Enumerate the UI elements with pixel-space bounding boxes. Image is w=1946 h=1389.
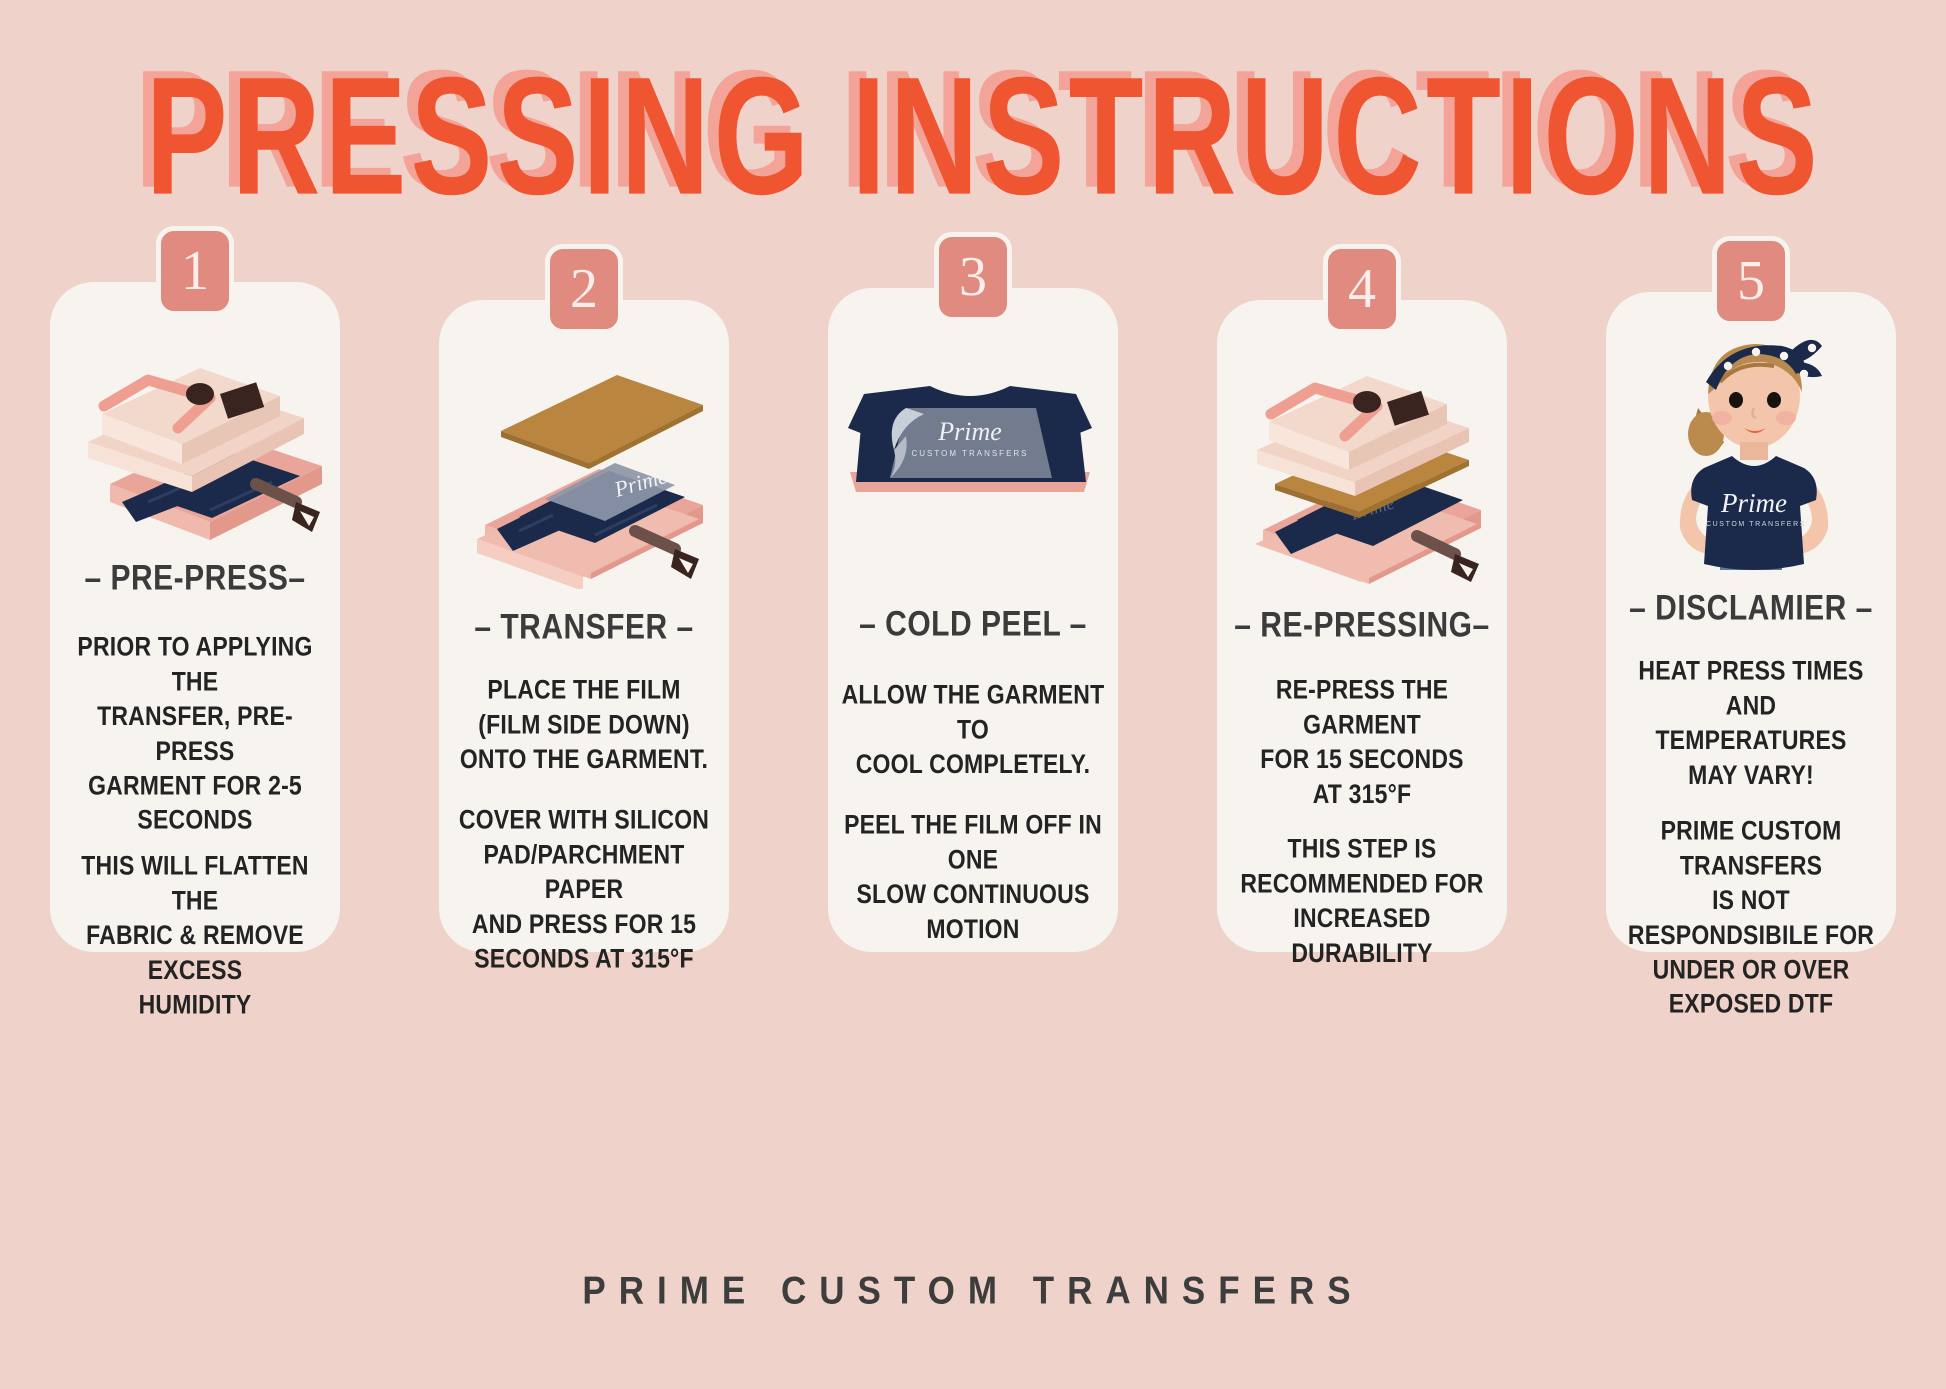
step-heading-2: – TRANSFER – (474, 608, 693, 648)
steps-row: 1 (50, 282, 1896, 952)
step-number-badge-2: 2 (545, 244, 623, 334)
step-number-badge-3: 3 (934, 232, 1012, 322)
step-body-1: PRIOR TO APPLYING THE TRANSFER, PRE-PRES… (50, 630, 340, 999)
step-card-2: 2 Prime (439, 300, 729, 952)
step-card-5: 5 (1606, 292, 1896, 952)
step-card-3: 3 Prime CUSTOM TRANSFERS – COLD PEEL – (828, 288, 1118, 952)
heat-press-closed-icon (50, 306, 340, 556)
step-paragraph: PRIME CUSTOM TRANSFERS IS NOT RESPONDSIB… (1618, 814, 1884, 1022)
shirt-logo-brand: Prime (1720, 488, 1787, 518)
shirt-logo-sub: CUSTOM TRANSFERS (1706, 521, 1806, 528)
step-paragraph: RE-PRESS THE GARMENT FOR 15 SECONDS AT 3… (1229, 673, 1495, 812)
step-paragraph: THIS STEP IS RECOMMENDED FOR INCREASED D… (1229, 832, 1495, 971)
poster-title: PRESSING INSTRUCTIONS PRESSING INSTRUCTI… (0, 46, 1946, 186)
step-paragraph: ALLOW THE GARMENT TO COOL COMPLETELY. (840, 678, 1106, 782)
title-main-layer: PRESSING INSTRUCTIONS (146, 53, 1822, 221)
step-paragraph: PRIOR TO APPLYING THE TRANSFER, PRE-PRES… (62, 630, 328, 838)
step-number-badge-1: 1 (156, 226, 234, 316)
step-paragraph: PEEL THE FILM OFF IN ONE SLOW CONTINUOUS… (840, 808, 1106, 947)
step-card-4: 4 Prime (1217, 300, 1507, 952)
footer-brand: PRIME CUSTOM TRANSFERS (0, 1269, 1946, 1314)
step-card-1: 1 (50, 282, 340, 952)
cold-peel-shirt-icon: Prime CUSTOM TRANSFERS (828, 312, 1118, 602)
step-body-5: HEAT PRESS TIMES AND TEMPERATURES MAY VA… (1606, 654, 1896, 993)
step-paragraph: PLACE THE FILM (FILM SIDE DOWN) ONTO THE… (451, 673, 717, 777)
step-body-2: PLACE THE FILM (FILM SIDE DOWN) ONTO THE… (439, 673, 729, 952)
step-paragraph: HEAT PRESS TIMES AND TEMPERATURES MAY VA… (1618, 654, 1884, 793)
step-body-3: ALLOW THE GARMENT TO COOL COMPLETELY. PE… (828, 678, 1118, 927)
svg-text:CUSTOM TRANSFERS: CUSTOM TRANSFERS (911, 449, 1028, 458)
transfer-film-parchment-icon: Prime (439, 324, 729, 605)
girl-wearing-tshirt-icon: Prime CUSTOM TRANSFERS (1606, 316, 1896, 586)
step-heading-4: – RE-PRESSING– (1234, 606, 1489, 646)
svg-text:Prime: Prime (937, 417, 1002, 446)
step-number-badge-5: 5 (1712, 236, 1790, 326)
step-heading-5: – DISCLAMIER – (1629, 589, 1873, 629)
step-body-4: RE-PRESS THE GARMENT FOR 15 SECONDS AT 3… (1217, 673, 1507, 952)
step-paragraph: THIS WILL FLATTEN THE FABRIC & REMOVE EX… (62, 849, 328, 1022)
step-number-badge-4: 4 (1323, 244, 1401, 334)
title-layer-stack: PRESSING INSTRUCTIONS PRESSING INSTRUCTI… (167, 46, 1779, 164)
re-press-stack-icon: Prime (1217, 324, 1507, 603)
step-heading-1: – PRE-PRESS– (84, 559, 305, 599)
step-paragraph: COVER WITH SILICON PAD/PARCHMENT PAPER A… (451, 803, 717, 976)
step-heading-3: – COLD PEEL – (859, 605, 1087, 645)
